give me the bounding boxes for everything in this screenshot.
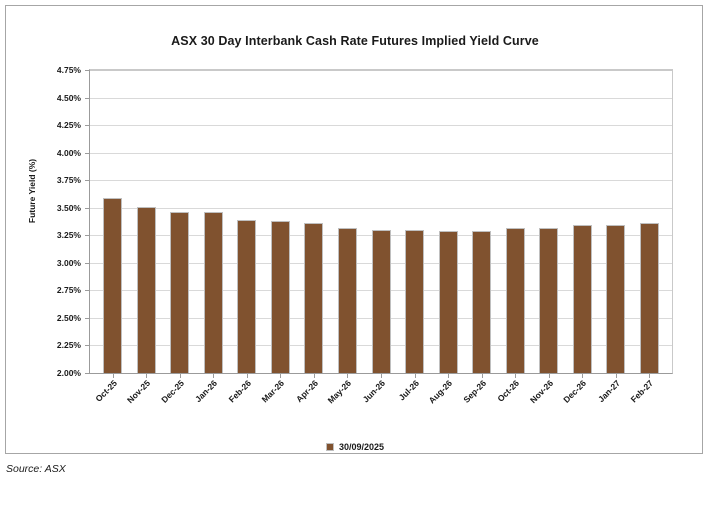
x-tick-mark [213,373,214,378]
x-tick-mark [415,373,416,378]
bar-slot [398,70,432,373]
bar[interactable] [137,207,156,373]
y-axis-tick-label: 3.50% [57,203,81,213]
y-axis-tick-label: 4.00% [57,148,81,158]
y-axis-tick-label: 4.75% [57,65,81,75]
bar[interactable] [472,231,491,373]
y-axis-tick-label: 3.00% [57,258,81,268]
bar[interactable] [573,225,592,373]
legend-swatch-icon [326,443,334,451]
bar-slot [96,70,130,373]
legend-item-label: 30/09/2025 [339,442,384,452]
x-tick-mark [582,373,583,378]
chart-page: ASX 30 Day Interbank Cash Rate Futures I… [0,0,712,488]
bar-slot [565,70,599,373]
bar-slot [264,70,298,373]
y-tick-mark [85,373,90,374]
bar[interactable] [372,230,391,373]
y-axis-title: Future Yield (%) [27,121,37,261]
source-note: Source: ASX [6,463,66,475]
bar-slot [431,70,465,373]
x-tick-mark [180,373,181,378]
bar[interactable] [103,198,122,373]
bar-series [90,70,672,373]
bar[interactable] [170,212,189,373]
bar-slot [197,70,231,373]
x-tick-mark [515,373,516,378]
bar[interactable] [237,220,256,373]
bar-slot [532,70,566,373]
x-tick-mark [649,373,650,378]
bar[interactable] [506,228,525,373]
x-tick-mark [616,373,617,378]
bar[interactable] [439,231,458,373]
bar-slot [130,70,164,373]
y-axis-tick-label: 2.25% [57,340,81,350]
x-tick-mark [247,373,248,378]
x-tick-mark [549,373,550,378]
bar-slot [297,70,331,373]
bar-slot [331,70,365,373]
y-axis-tick-label: 4.25% [57,120,81,130]
x-tick-mark [448,373,449,378]
bar[interactable] [606,225,625,373]
x-tick-mark [280,373,281,378]
bar[interactable] [204,212,223,373]
x-tick-mark [113,373,114,378]
bar[interactable] [338,228,357,373]
bar[interactable] [405,230,424,373]
x-tick-mark [381,373,382,378]
chart-title: ASX 30 Day Interbank Cash Rate Futures I… [6,34,704,48]
y-axis-tick-label: 3.75% [57,175,81,185]
bar-slot [163,70,197,373]
bar-slot [364,70,398,373]
bar[interactable] [304,223,323,373]
x-tick-mark [314,373,315,378]
x-tick-mark [482,373,483,378]
bar[interactable] [271,221,290,373]
chart-frame: ASX 30 Day Interbank Cash Rate Futures I… [5,5,703,454]
bar-slot [230,70,264,373]
bar-slot [599,70,633,373]
chart-legend: 30/09/2025 [6,442,704,452]
bar-slot [465,70,499,373]
y-axis-tick-label: 2.50% [57,313,81,323]
bar[interactable] [640,223,659,373]
y-axis-tick-label: 2.75% [57,285,81,295]
x-tick-mark [146,373,147,378]
y-axis-tick-label: 2.00% [57,368,81,378]
y-axis-tick-label: 4.50% [57,93,81,103]
x-tick-mark [347,373,348,378]
bar-slot [633,70,667,373]
plot-area: 4.75%4.50%4.25%4.00%3.75%3.50%3.25%3.00%… [89,69,673,374]
y-axis-tick-label: 3.25% [57,230,81,240]
bar[interactable] [539,228,558,373]
bar-slot [498,70,532,373]
